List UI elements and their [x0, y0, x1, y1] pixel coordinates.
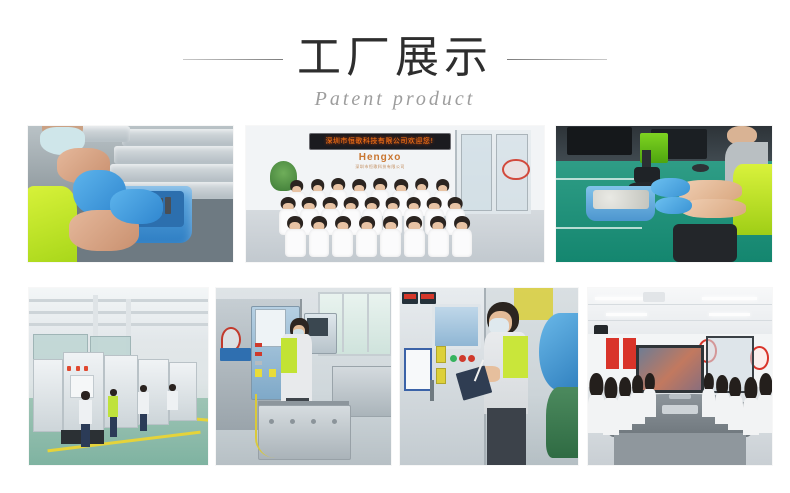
staff-person — [428, 216, 449, 257]
staff-person — [404, 216, 425, 257]
blue-glove — [651, 178, 690, 197]
scene-inspection — [400, 288, 578, 465]
conference-table-front — [614, 433, 746, 465]
scene-group-photo: 深圳市恒歌科技有限公司欢迎您! Hengxo 深圳市恒歌科技有限公司 — [246, 126, 544, 262]
status-button-red — [468, 355, 475, 362]
cart-bolt — [290, 419, 295, 424]
ceiling-projector — [643, 292, 665, 303]
room-ceiling — [588, 288, 772, 334]
wall-banner — [606, 338, 619, 370]
indicator-light — [255, 361, 262, 365]
wall-seal-emblem — [502, 159, 530, 181]
blue-glove — [110, 189, 163, 224]
packed-goods — [114, 146, 233, 164]
section-header: 工厂展示 Patent product — [0, 0, 790, 120]
display-readout — [404, 294, 416, 299]
hmi-touch-screen — [432, 304, 481, 349]
safety-vest — [281, 338, 297, 373]
photo-company-group[interactable]: 深圳市恒歌科技有限公司欢迎您! Hengxo 深圳市恒歌科技有限公司 — [246, 126, 544, 262]
photo-training-room[interactable] — [588, 288, 772, 465]
warning-sticker — [269, 369, 276, 377]
safety-vest — [733, 164, 772, 235]
led-banner-text: 深圳市恒歌科技有限公司欢迎您! — [325, 136, 433, 146]
metal-pellets — [593, 190, 649, 209]
scene-training-room — [588, 288, 772, 465]
worker-shirt — [167, 391, 178, 410]
window-mullion — [342, 292, 344, 352]
monitor — [567, 127, 632, 154]
scene-packing — [28, 126, 233, 262]
ceiling-light — [709, 313, 749, 316]
photo-process-inspection[interactable] — [400, 288, 578, 465]
worker-head — [81, 391, 90, 400]
packed-goods — [110, 164, 233, 182]
indicator-light — [255, 343, 262, 347]
ceiling-beam — [29, 311, 208, 314]
ceiling-light — [606, 313, 646, 316]
warning-sticker — [255, 369, 262, 377]
green-hose-coil — [546, 387, 578, 458]
table-keyboard — [662, 405, 699, 414]
cabinet-handle — [430, 380, 434, 401]
brand-company-name: 深圳市恒歌科技有限公司 — [335, 164, 424, 170]
ceiling-light — [702, 297, 757, 300]
photo-cnc-machining[interactable] — [216, 288, 391, 465]
posted-document — [404, 348, 433, 391]
warning-label — [436, 346, 447, 362]
indicator-light — [84, 366, 88, 371]
title-row: 工厂展示 — [0, 30, 790, 86]
cart-bolt — [311, 419, 316, 424]
ceiling-grid-line — [588, 304, 772, 305]
equipment-cabinet — [33, 359, 64, 432]
scene-cnc — [216, 288, 391, 465]
cart-bolt — [332, 419, 337, 424]
wall-banner — [623, 338, 636, 370]
staff-person — [285, 216, 306, 257]
wall-brand-logo: Hengxo 深圳市恒歌科技有限公司 — [335, 152, 424, 174]
ceiling-beam — [29, 323, 208, 326]
safety-vest — [503, 336, 528, 378]
worker-shirt — [138, 392, 149, 413]
ceiling-grid-line — [588, 320, 772, 321]
control-screen — [307, 318, 328, 336]
worker-trousers — [81, 424, 90, 447]
worker-head — [169, 384, 176, 391]
blue-machine-wheel — [539, 313, 578, 391]
blue-glove — [655, 197, 692, 215]
led-welcome-banner: 深圳市恒歌科技有限公司欢迎您! — [309, 133, 451, 150]
factory-showcase-page: 工厂展示 Patent product — [0, 0, 790, 493]
status-button-red — [459, 355, 466, 362]
warning-label — [436, 368, 447, 384]
seated-attendee — [757, 373, 772, 433]
indicator-light — [255, 352, 262, 356]
staff-person — [356, 216, 377, 257]
machine-cable — [255, 394, 282, 458]
scene-workshop — [29, 288, 208, 465]
window-mullion — [367, 292, 369, 352]
machine-label — [220, 348, 252, 360]
packed-goods — [122, 129, 233, 147]
glass-panel — [461, 134, 493, 211]
scene-microscope-qc — [556, 126, 772, 262]
worker-trousers — [140, 414, 147, 432]
divider-left-icon — [183, 59, 283, 60]
divider-right-icon — [507, 59, 607, 60]
staff-person — [452, 216, 473, 257]
worker-shirt — [79, 400, 92, 425]
worker-head — [110, 389, 117, 396]
photo-microscope-qc[interactable] — [556, 126, 772, 262]
seated-attendee — [643, 373, 656, 417]
chair — [673, 224, 738, 262]
display-readout — [421, 294, 433, 299]
staff-person — [380, 216, 401, 257]
photo-packing-inspection[interactable] — [28, 126, 233, 262]
staff-person — [309, 216, 330, 257]
page-subtitle: Patent product — [0, 88, 790, 111]
staff-person — [332, 216, 353, 257]
ceiling-beam — [29, 299, 208, 302]
brand-name: Hengxo — [335, 152, 424, 163]
worker-trousers — [110, 417, 117, 436]
seated-attendee — [728, 377, 743, 430]
metal-part — [165, 197, 171, 215]
overhead-duct — [514, 288, 553, 320]
table-control-unit — [669, 394, 691, 399]
bench-seam — [556, 227, 642, 229]
indicator-light — [76, 366, 80, 371]
page-title: 工厂展示 — [297, 34, 493, 82]
seated-attendee — [702, 373, 715, 417]
safety-vest — [108, 396, 119, 417]
packed-goods — [77, 126, 130, 142]
photo-workshop-aisle[interactable] — [29, 288, 208, 465]
indicator-light — [67, 366, 71, 371]
worker-trousers — [487, 408, 526, 465]
